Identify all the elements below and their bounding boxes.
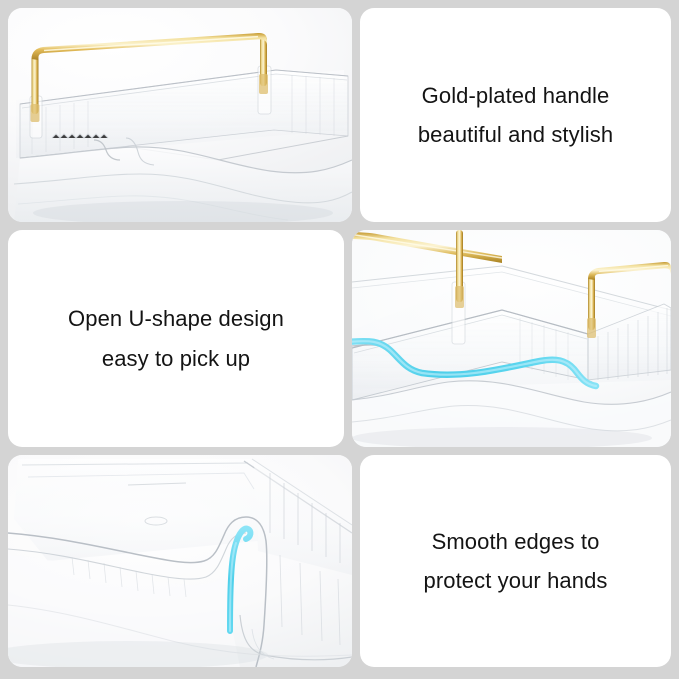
tray-illustration-row2 [352, 230, 671, 447]
caption-u-shape-line2: easy to pick up [102, 346, 250, 371]
tray-illustration-row1 [8, 8, 352, 222]
caption-smooth-edges-line2: protect your hands [423, 568, 607, 593]
caption-gold-handle-line1: Gold-plated handle [422, 83, 610, 108]
smooth-edge-closeup-photo [8, 455, 352, 667]
u-shape-opening-photo [352, 230, 671, 447]
product-infographic: Gold-plated handle beautiful and stylish… [0, 0, 679, 679]
caption-smooth-edges: Smooth edges to protect your hands [360, 455, 671, 667]
caption-smooth-edges-line1: Smooth edges to [432, 529, 600, 554]
tray-with-gold-handle-photo [8, 8, 352, 222]
tray-illustration-row3 [8, 455, 352, 667]
caption-gold-handle: Gold-plated handle beautiful and stylish [360, 8, 671, 222]
caption-u-shape: Open U-shape design easy to pick up [8, 230, 344, 447]
caption-gold-handle-line2: beautiful and stylish [418, 122, 613, 147]
caption-u-shape-line1: Open U-shape design [68, 306, 284, 331]
